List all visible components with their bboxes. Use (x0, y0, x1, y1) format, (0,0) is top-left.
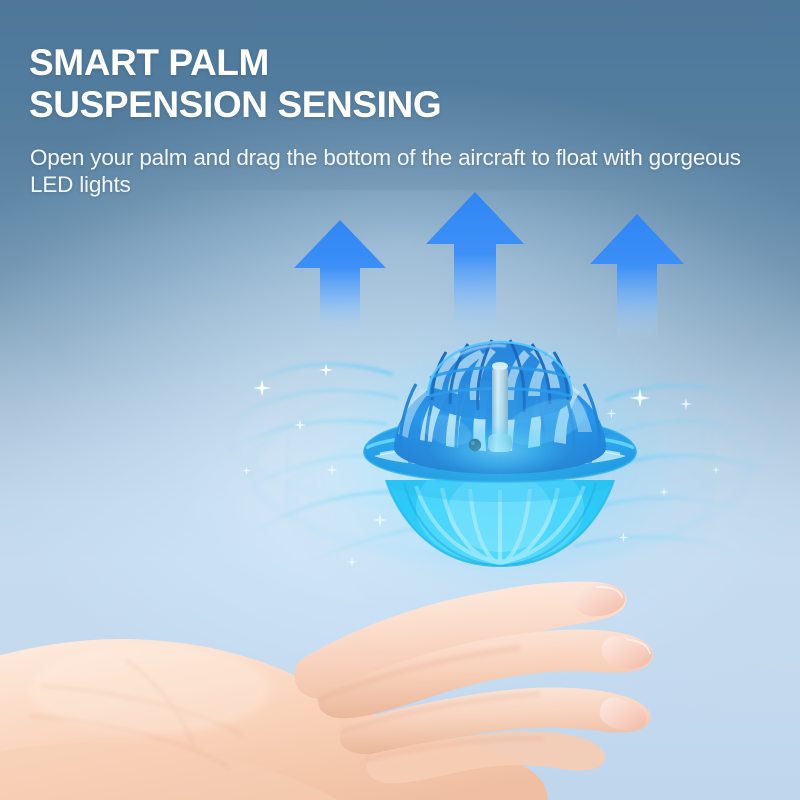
led-sparkle (659, 487, 669, 497)
led-sparkle (712, 466, 720, 474)
page-title: SMART PALM SUSPENSION SENSING (29, 42, 769, 126)
orb-illustration (350, 330, 650, 590)
led-sparkle (319, 363, 333, 377)
product-marketing-poster: SMART PALM SUSPENSION SENSING Open your … (0, 0, 800, 800)
led-sparkle (680, 398, 692, 410)
arrow-right (588, 212, 686, 342)
led-sparkle (294, 419, 306, 431)
led-sparkle (242, 466, 251, 475)
arrow-left (292, 218, 388, 338)
flying-orb-spinner (350, 330, 650, 590)
led-sparkle (253, 379, 271, 397)
arrow-center (424, 190, 526, 338)
page-subtitle: Open your palm and drag the bottom of th… (30, 144, 778, 198)
led-sparkle (326, 464, 338, 476)
